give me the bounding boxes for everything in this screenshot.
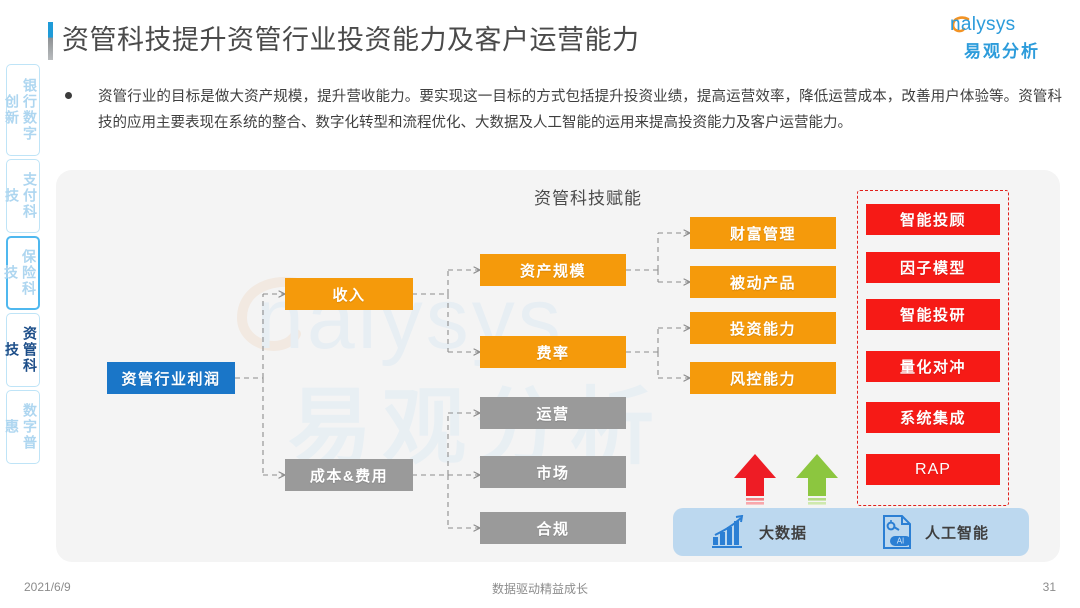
title-accent-bar <box>48 22 53 60</box>
slide-header: 资管科技提升资管行业投资能力及客户运营能力 nalysys 易观分析 <box>0 0 1080 70</box>
sidebar-item-label: 银行数字创新 <box>4 78 38 142</box>
node-label: 资管行业利润 <box>121 368 220 389</box>
bar-chart-growth-icon <box>711 515 747 549</box>
node-market[interactable]: 市场 <box>480 456 626 488</box>
red-up-arrow-icon <box>732 452 778 508</box>
node-asset-scale[interactable]: 资产规模 <box>480 254 626 286</box>
node-quantitative-hedging[interactable]: 量化对冲 <box>866 351 1000 382</box>
capability-artificial-intelligence[interactable]: AI 人工智能 <box>881 514 989 550</box>
node-label: RAP <box>915 461 951 479</box>
sidebar-item-label: 资管科技 <box>4 326 38 374</box>
node-wealth-management[interactable]: 财富管理 <box>690 217 836 249</box>
capability-label: 人工智能 <box>925 522 989 543</box>
node-revenue[interactable]: 收入 <box>285 278 413 310</box>
node-factor-model[interactable]: 因子模型 <box>866 252 1000 283</box>
node-asset-management-industry-profit[interactable]: 资管行业利润 <box>107 362 235 394</box>
footer-tagline: 数据驱动精益成长 <box>0 580 1080 597</box>
node-label: 资产规模 <box>520 260 586 281</box>
capability-big-data[interactable]: 大数据 <box>711 515 807 549</box>
sidebar-item-label: 数字普惠 <box>4 403 38 451</box>
bullet-paragraph-row: 资管行业的目标是做大资产规模，提升营收能力。要实现这一目标的方式包括提升投资业绩… <box>62 84 1062 136</box>
green-up-arrow-icon <box>794 452 840 508</box>
sidebar-item-digital-inclusive-finance[interactable]: 数字普惠 <box>6 390 40 464</box>
logo-chinese-name: 易观分析 <box>964 37 1040 62</box>
sidebar-item-asset-management-tech[interactable]: 资管科技 <box>6 313 40 387</box>
node-cost-and-expense[interactable]: 成本&费用 <box>285 459 413 491</box>
node-label: 智能投顾 <box>900 209 966 230</box>
node-label: 收入 <box>332 284 365 305</box>
sidebar-item-label: 支付科技 <box>4 172 38 220</box>
node-system-integration[interactable]: 系统集成 <box>866 402 1000 433</box>
node-label: 量化对冲 <box>900 356 966 377</box>
node-investment-capability[interactable]: 投资能力 <box>690 312 836 344</box>
node-label: 被动产品 <box>730 272 796 293</box>
node-intelligent-research[interactable]: 智能投研 <box>866 299 1000 330</box>
sidebar-item-label: 保险科技 <box>3 249 37 297</box>
node-label: 投资能力 <box>730 318 796 339</box>
node-label: 风控能力 <box>730 368 796 389</box>
bullet-dot-icon <box>65 92 72 99</box>
node-fee-rate[interactable]: 费率 <box>480 336 626 368</box>
node-label: 财富管理 <box>730 223 796 244</box>
svg-text:AI: AI <box>897 537 905 546</box>
node-label: 因子模型 <box>900 257 966 278</box>
node-label: 市场 <box>536 462 569 483</box>
node-label: 成本&费用 <box>310 465 388 486</box>
sidebar-vertical-nav[interactable]: 银行数字创新 支付科技 保险科技 资管科技 数字普惠 <box>6 64 40 467</box>
bullet-text: 资管行业的目标是做大资产规模，提升营收能力。要实现这一目标的方式包括提升投资业绩… <box>98 84 1062 136</box>
logo-wordmark: nalysys <box>950 14 1015 36</box>
node-label: 智能投研 <box>900 304 966 325</box>
node-label: 费率 <box>536 342 569 363</box>
diagram-card: nalysys 易观分析 资管科技赋能 <box>56 170 1060 562</box>
node-operations[interactable]: 运营 <box>480 397 626 429</box>
footer-page-number: 31 <box>1043 580 1056 594</box>
sidebar-item-bank-digital-innovation[interactable]: 银行数字创新 <box>6 64 40 156</box>
node-label: 系统集成 <box>900 407 966 428</box>
capability-label: 大数据 <box>759 522 807 543</box>
ai-document-icon: AI <box>881 514 913 550</box>
page-title: 资管科技提升资管行业投资能力及客户运营能力 <box>62 20 640 60</box>
analysys-logo: nalysys 易观分析 <box>950 12 1062 60</box>
node-robo-advisor[interactable]: 智能投顾 <box>866 204 1000 235</box>
node-compliance[interactable]: 合规 <box>480 512 626 544</box>
node-label: 合规 <box>536 518 569 539</box>
node-label: 运营 <box>536 403 569 424</box>
node-passive-products[interactable]: 被动产品 <box>690 266 836 298</box>
node-rap[interactable]: RAP <box>866 454 1000 485</box>
sidebar-item-payment-tech[interactable]: 支付科技 <box>6 159 40 233</box>
sidebar-item-insurance-tech[interactable]: 保险科技 <box>6 236 40 310</box>
node-risk-control-capability[interactable]: 风控能力 <box>690 362 836 394</box>
capability-bar: 大数据 AI 人工智能 <box>673 508 1029 556</box>
